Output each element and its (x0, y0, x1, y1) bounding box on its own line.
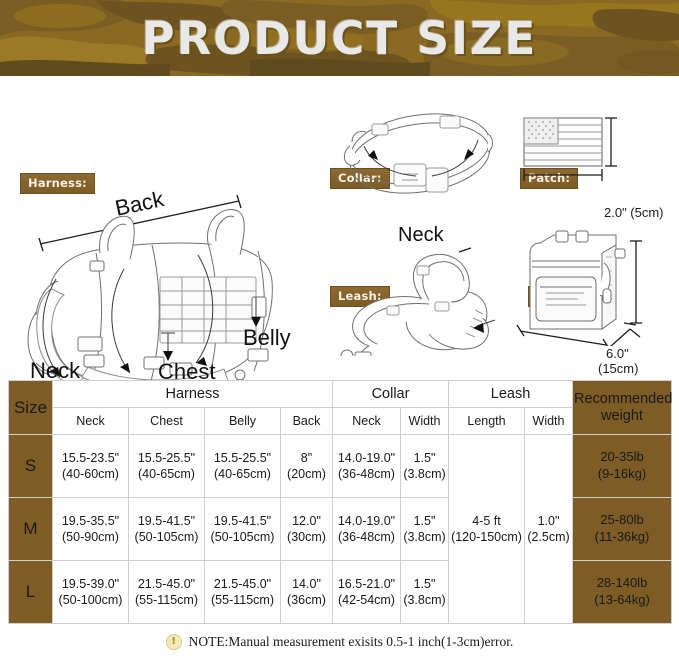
group-header-harness: Harness (53, 381, 333, 408)
leash-illustration (325, 206, 515, 356)
cell-l-harness-neck: 19.5-39.0" (50-100cm) (53, 561, 129, 624)
cell-line2: (40-65cm) (206, 466, 279, 482)
cell-m-harness-neck: 19.5-35.5" (50-90cm) (53, 498, 129, 561)
cell-line1: 15.5-25.5" (130, 450, 203, 466)
cell-line2: (50-105cm) (206, 529, 279, 545)
cell-line1: 14.0" (282, 576, 331, 592)
table-header-row-2: Neck Chest Belly Back Neck Width Length … (9, 408, 672, 435)
cell-m-collar-width: 1.5" (3.8cm) (401, 498, 449, 561)
col-harness-belly: Belly (205, 408, 281, 435)
weight-header-line2: weight (574, 408, 670, 425)
page-banner: PRODUCT SIZE (0, 0, 679, 76)
cell-line2: (55-115cm) (206, 592, 279, 608)
bag-illustration (504, 201, 679, 346)
table-row: S 15.5-23.5" (40-60cm) 15.5-25.5" (40-65… (9, 435, 672, 498)
bag-height-dimension (630, 241, 642, 323)
size-table-wrap: Size Harness Collar Leash Recommended we… (8, 380, 671, 624)
cell-line2: (9-16kg) (574, 466, 670, 483)
cell-line2: (120-150cm) (450, 529, 523, 545)
cell-l-collar-width: 1.5" (3.8cm) (401, 561, 449, 624)
cell-line1: 19.5-41.5" (206, 513, 279, 529)
group-header-collar: Collar (333, 381, 449, 408)
cell-line2: (40-60cm) (54, 466, 127, 482)
cell-line1: 8" (282, 450, 331, 466)
cell-line1: 25-80lb (574, 512, 670, 529)
cell-line1: 28-140lb (574, 575, 670, 592)
cell-m-harness-chest: 19.5-41.5" (50-105cm) (129, 498, 205, 561)
cell-line2: (11-36kg) (574, 529, 670, 546)
cell-l-harness-back: 14.0" (36cm) (281, 561, 333, 624)
cell-line1: 4-5 ft (450, 513, 523, 529)
col-leash-width: Width (525, 408, 573, 435)
cell-line1: 1.5" (402, 450, 447, 466)
cell-line1: 1.5" (402, 576, 447, 592)
cell-s-collar-neck: 14.0-19.0" (36-48cm) (333, 435, 401, 498)
cell-s-harness-back: 8" (20cm) (281, 435, 333, 498)
cell-m-weight: 25-80lb (11-36kg) (573, 498, 672, 561)
col-harness-back: Back (281, 408, 333, 435)
cell-line2: (36-48cm) (334, 529, 399, 545)
cell-l-harness-belly: 21.5-45.0" (55-115cm) (205, 561, 281, 624)
size-label-s: S (9, 435, 53, 498)
patch-width-dimension (524, 169, 602, 181)
cell-l-collar-neck: 16.5-21.0" (42-54cm) (333, 561, 401, 624)
patch-illustration (512, 96, 677, 191)
harness-belly-label: Belly (243, 325, 291, 351)
table-row: M 19.5-35.5" (50-90cm) 19.5-41.5" (50-10… (9, 498, 672, 561)
cell-line1: 19.5-35.5" (54, 513, 127, 529)
flag-patch (524, 118, 602, 166)
cell-line2: (50-100cm) (54, 592, 127, 608)
table-header-row-1: Size Harness Collar Leash Recommended we… (9, 381, 672, 408)
cell-line2: (30cm) (282, 529, 331, 545)
cell-line1: 19.5-41.5" (130, 513, 203, 529)
cell-line2: (2.5cm) (526, 529, 571, 545)
size-label-l: L (9, 561, 53, 624)
recommended-weight-header: Recommended weight (573, 381, 672, 435)
cell-line1: 15.5-25.5" (206, 450, 279, 466)
cell-line2: (50-90cm) (54, 529, 127, 545)
cell-line1: 1.0" (526, 513, 571, 529)
size-label-m: M (9, 498, 53, 561)
cell-line2: (40-65cm) (130, 466, 203, 482)
cell-s-collar-width: 1.5" (3.8cm) (401, 435, 449, 498)
cell-line1: 19.5-39.0" (54, 576, 127, 592)
table-row: L 19.5-39.0" (50-100cm) 21.5-45.0" (55-1… (9, 561, 672, 624)
cell-s-harness-belly: 15.5-25.5" (40-65cm) (205, 435, 281, 498)
cell-s-harness-neck: 15.5-23.5" (40-60cm) (53, 435, 129, 498)
cell-line1: 15.5-23.5" (54, 450, 127, 466)
exclamation-icon: ! (166, 634, 182, 650)
cell-line1: 21.5-45.0" (130, 576, 203, 592)
cell-line2: (13-64kg) (574, 592, 670, 609)
bag-height-line2: (15cm) (598, 362, 638, 377)
note-row: ! NOTE:Manual measurement exisits 0.5-1 … (0, 634, 679, 650)
cell-line1: 20-35lb (574, 449, 670, 466)
cell-line1: 14.0-19.0" (334, 513, 399, 529)
cell-line2: (20cm) (282, 466, 331, 482)
cell-line1: 12.0" (282, 513, 331, 529)
group-header-leash: Leash (449, 381, 573, 408)
cell-line2: (42-54cm) (334, 592, 399, 608)
illustration-board: Harness: (0, 76, 679, 374)
cell-line2: (3.8cm) (402, 592, 447, 608)
cell-m-collar-neck: 14.0-19.0" (36-48cm) (333, 498, 401, 561)
cell-leash-width-shared: 1.0" (2.5cm) (525, 435, 573, 624)
col-harness-chest: Chest (129, 408, 205, 435)
cell-line1: 21.5-45.0" (206, 576, 279, 592)
cell-line1: 16.5-21.0" (334, 576, 399, 592)
col-collar-neck: Neck (333, 408, 401, 435)
cell-line2: (36-48cm) (334, 466, 399, 482)
size-header: Size (9, 381, 53, 435)
cell-l-harness-chest: 21.5-45.0" (55-115cm) (129, 561, 205, 624)
cell-s-harness-chest: 15.5-25.5" (40-65cm) (129, 435, 205, 498)
cell-m-harness-back: 12.0" (30cm) (281, 498, 333, 561)
col-harness-neck: Neck (53, 408, 129, 435)
cell-line2: (36cm) (282, 592, 331, 608)
note-text: NOTE:Manual measurement exisits 0.5-1 in… (189, 634, 514, 650)
cell-line2: (3.8cm) (402, 529, 447, 545)
cell-l-weight: 28-140lb (13-64kg) (573, 561, 672, 624)
cell-leash-length-shared: 4-5 ft (120-150cm) (449, 435, 525, 624)
cell-m-harness-belly: 19.5-41.5" (50-105cm) (205, 498, 281, 561)
weight-header-line1: Recommended (574, 391, 670, 408)
collar-illustration (328, 94, 508, 199)
cell-line1: 14.0-19.0" (334, 450, 399, 466)
cell-line2: (3.8cm) (402, 466, 447, 482)
patch-height-dimension (605, 118, 617, 166)
cell-line2: (50-105cm) (130, 529, 203, 545)
col-collar-width: Width (401, 408, 449, 435)
cell-line1: 1.5" (402, 513, 447, 529)
bag-depth-dimension (610, 323, 640, 346)
col-leash-length: Length (449, 408, 525, 435)
cell-line2: (55-115cm) (130, 592, 203, 608)
size-table: Size Harness Collar Leash Recommended we… (8, 380, 672, 624)
page-title: PRODUCT SIZE (0, 0, 679, 76)
bag-height-line1: 6.0" (606, 347, 629, 362)
cell-s-weight: 20-35lb (9-16kg) (573, 435, 672, 498)
